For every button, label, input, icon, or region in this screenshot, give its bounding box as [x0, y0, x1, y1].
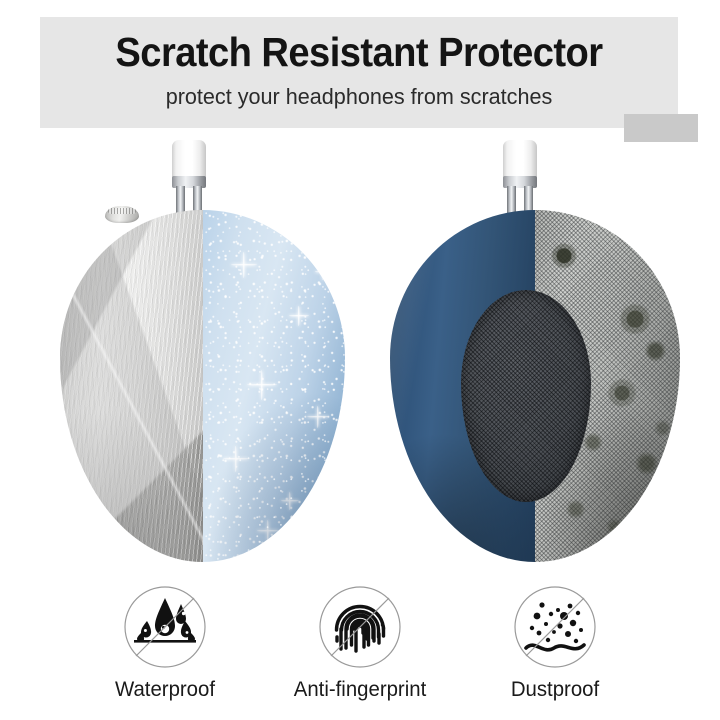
sparkle — [281, 492, 299, 510]
sparkle — [307, 406, 329, 428]
page-title: Scratch Resistant Protector — [62, 28, 655, 76]
feature-dustproof: Dustproof — [465, 585, 645, 702]
stem-cap — [172, 140, 206, 180]
left-earcup — [60, 210, 345, 562]
sparkle — [315, 264, 331, 280]
feature-label: Anti-fingerprint — [273, 678, 448, 702]
left-earcup-group — [60, 140, 360, 565]
crown-ridges — [108, 208, 136, 214]
feature-label: Dustproof — [468, 678, 643, 702]
glitter-protector-surface — [203, 210, 346, 562]
dust-particles-icon — [513, 585, 597, 669]
feature-waterproof: Waterproof — [75, 585, 255, 702]
stem-cap — [503, 140, 537, 180]
right-earcup-group — [390, 140, 690, 565]
right-earcup — [390, 210, 680, 562]
sparkle — [223, 446, 249, 472]
feature-anti-fingerprint: Anti-fingerprint — [270, 585, 450, 702]
header-accent-block — [624, 114, 698, 142]
scratched-surface — [60, 210, 203, 562]
product-infographic: Scratch Resistant Protector protect your… — [0, 0, 720, 720]
volume-crown-dial — [105, 206, 139, 223]
page-subtitle: protect your headphones from scratches — [53, 82, 665, 112]
feature-label: Waterproof — [78, 678, 253, 702]
fingerprint-icon — [318, 585, 402, 669]
sparkle — [231, 252, 257, 278]
sparkle — [247, 370, 277, 400]
sparkle — [289, 306, 309, 326]
water-splash-icon — [123, 585, 207, 669]
sparkle — [257, 520, 279, 542]
